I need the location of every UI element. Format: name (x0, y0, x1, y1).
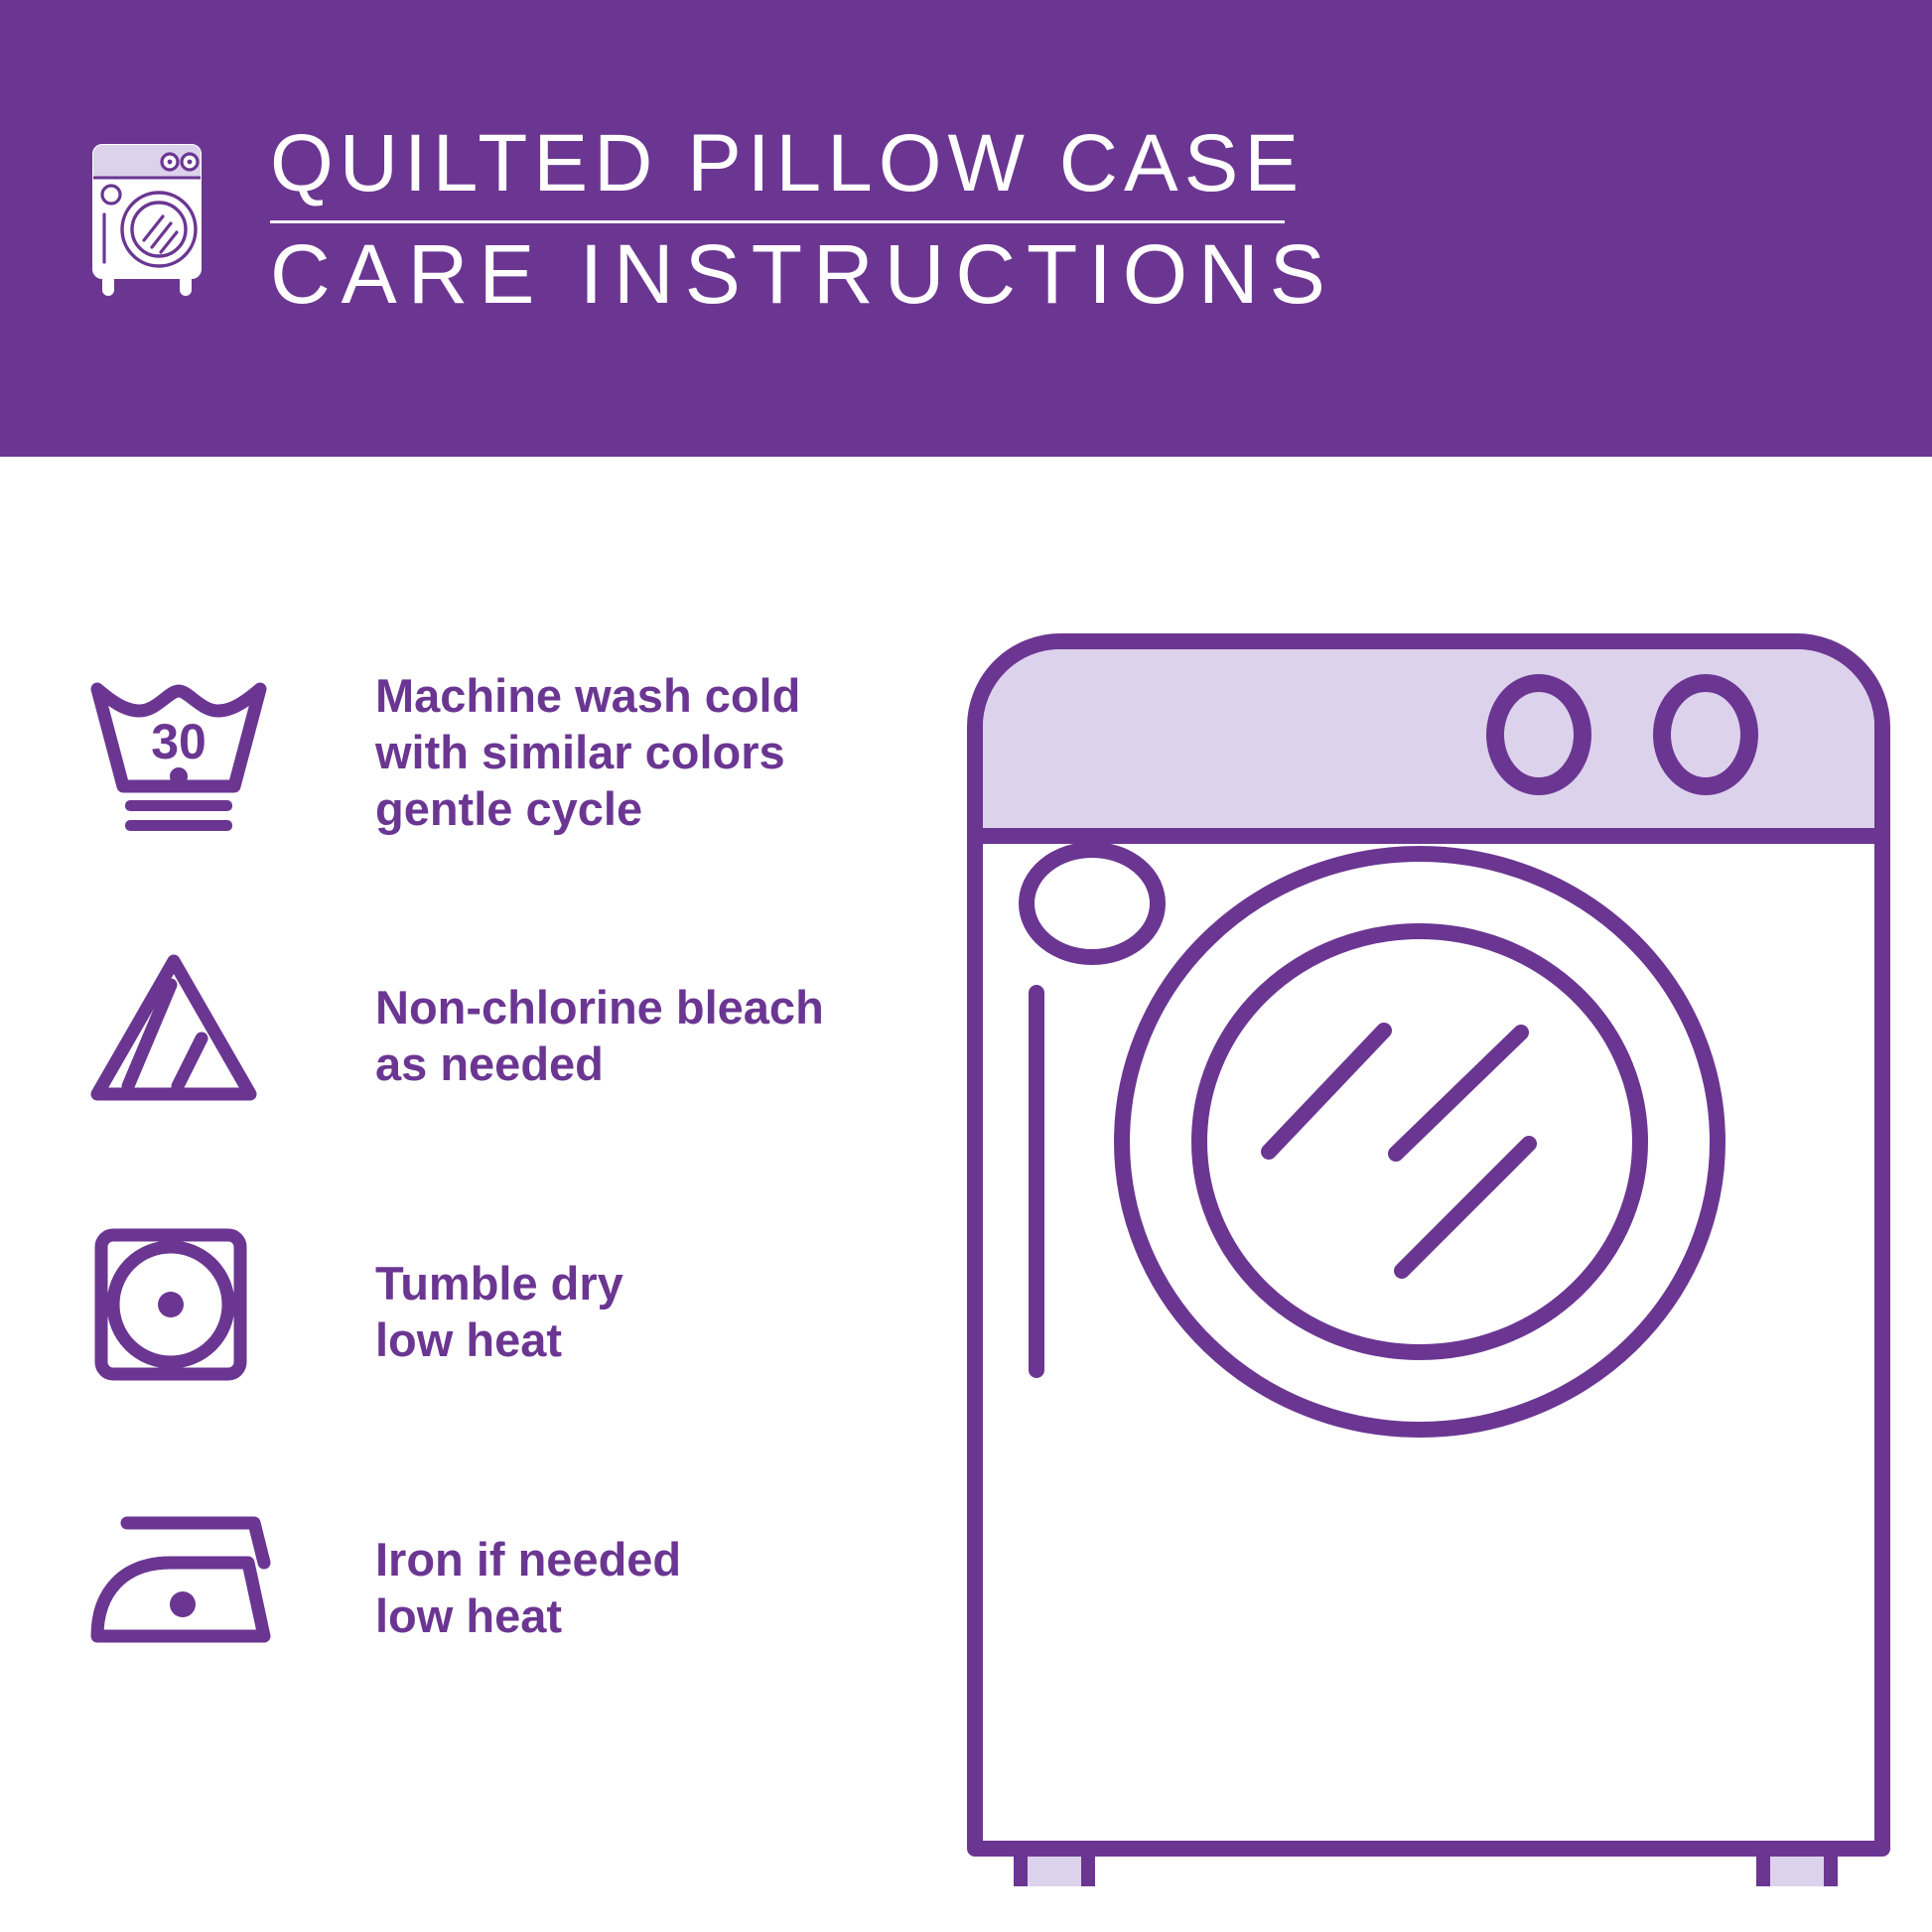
care-text-line: Tumble dry (375, 1255, 933, 1311)
iron-low-heat-icon (79, 1487, 278, 1666)
care-text-line: low heat (375, 1587, 933, 1644)
non-chlorine-bleach-triangle-icon (79, 939, 278, 1118)
care-item-tumble-dry: Tumble dry low heat (79, 1213, 933, 1392)
header-text-block: QUILTED PILLOW CASE CARE INSTRUCTIONS (270, 119, 1362, 319)
wash-tub-30-gentle-icon: 30 (79, 665, 278, 844)
wash-temp-value: 30 (151, 714, 207, 769)
care-text-line: gentle cycle (375, 780, 933, 837)
care-text-line: low heat (375, 1311, 933, 1368)
care-item-bleach: Non-chlorine bleach as needed (79, 939, 933, 1118)
care-item-tumble-dry-label: Tumble dry low heat (375, 1213, 933, 1368)
care-text-line: Machine wash cold (375, 667, 933, 724)
knob-right[interactable] (1662, 683, 1749, 786)
care-item-iron-label: Iron if needed low heat (375, 1487, 933, 1644)
washing-machine-icon (71, 123, 222, 300)
care-item-machine-wash-label: Machine wash cold with similar colors ge… (375, 665, 933, 837)
care-item-bleach-label: Non-chlorine bleach as needed (375, 939, 933, 1092)
page-subtitle: CARE INSTRUCTIONS (270, 229, 1362, 319)
care-text-line: Iron if needed (375, 1531, 933, 1587)
tumble-dry-low-heat-icon (79, 1213, 278, 1392)
care-instructions-list: 30 Machine wash cold with similar colors… (79, 665, 933, 1761)
knob-left[interactable] (1495, 683, 1583, 786)
care-item-iron: Iron if needed low heat (79, 1487, 933, 1666)
care-text-line: as needed (375, 1035, 933, 1092)
care-item-machine-wash: 30 Machine wash cold with similar colors… (79, 665, 933, 844)
page-title: QUILTED PILLOW CASE (270, 121, 1362, 207)
front-load-washing-machine-illustration (953, 616, 1906, 1886)
header-content: QUILTED PILLOW CASE CARE INSTRUCTIONS (71, 119, 1362, 308)
care-text-line: Non-chlorine bleach (375, 979, 933, 1035)
header-banner: QUILTED PILLOW CASE CARE INSTRUCTIONS (0, 0, 1932, 457)
care-text-line: with similar colors (375, 724, 933, 780)
header-divider (270, 220, 1285, 223)
